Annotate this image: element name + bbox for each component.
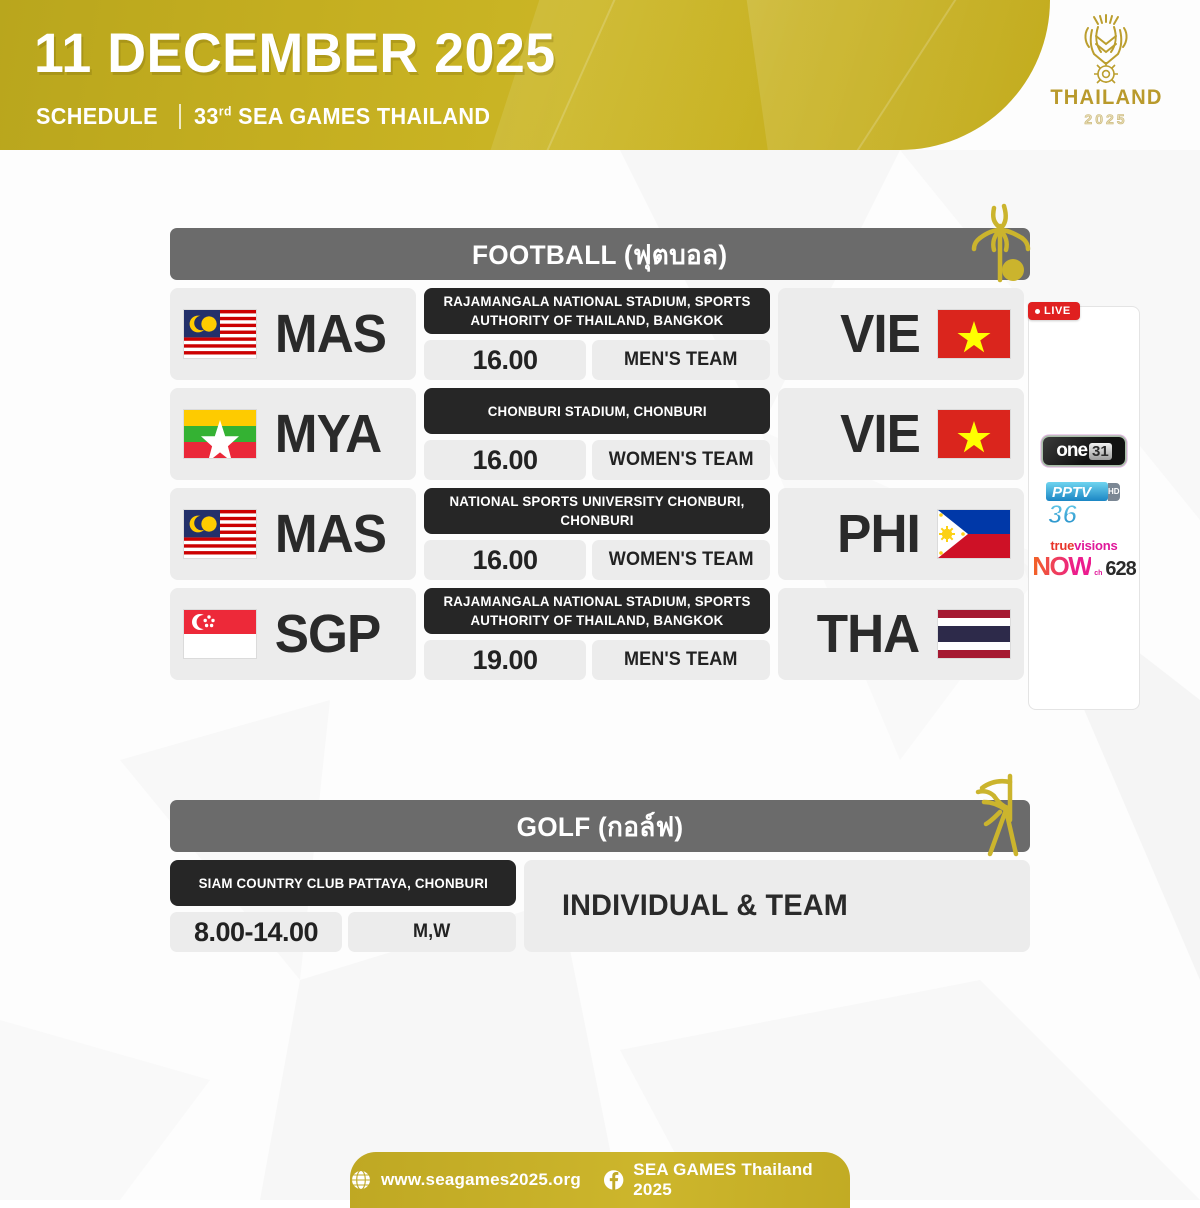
event-text: WOMEN'S TEAM	[609, 449, 754, 471]
venue-label: RAJAMANGALA NATIONAL STADIUM, SPORTS AUT…	[424, 588, 770, 634]
time-badge: 8.00-14.00	[170, 912, 342, 952]
svg-text:HD: HD	[1108, 487, 1120, 496]
now-channel-number: 628	[1105, 559, 1135, 579]
event-badge: MEN'S TEAM	[592, 640, 770, 680]
venue-label: CHONBURI STADIUM, CHONBURI	[424, 388, 770, 434]
facebook-icon	[603, 1169, 624, 1191]
page-header: 11 DECEMBER 2025 SCHEDULE 33rd SEA GAMES…	[0, 0, 1200, 150]
match-time-row: 16.00 WOMEN'S TEAM	[424, 440, 770, 480]
home-team-code: MYA	[275, 407, 381, 461]
logo-wordmark: THAILAND	[1050, 86, 1162, 110]
match-time-row: 16.00 WOMEN'S TEAM	[424, 540, 770, 580]
schedule-content: FOOTBALL (ฟุตบอล)	[0, 150, 1200, 952]
channel-logo-truevisions-now-628[interactable]: truevisions NOW ch 628	[1034, 539, 1134, 579]
venue-label: SIAM COUNTRY CLUB PATTAYA, CHONBURI	[170, 860, 516, 906]
flag-philippines-icon	[938, 510, 1010, 558]
category-text: M,W	[413, 921, 450, 943]
away-team-cell: VIE	[778, 288, 1024, 380]
match-detail-cell: RAJAMANGALA NATIONAL STADIUM, SPORTS AUT…	[424, 288, 770, 380]
away-team-cell: VIE	[778, 388, 1024, 480]
broadcast-channels-panel: one 31 PPTV HD 36 truevisions NOW ch 628	[1028, 306, 1140, 710]
svg-text:36: 36	[1048, 499, 1077, 525]
venue-label: RAJAMANGALA NATIONAL STADIUM, SPORTS AUT…	[424, 288, 770, 334]
one-channel-number: 31	[1089, 443, 1112, 460]
facebook-label: SEA GAMES Thailand 2025	[633, 1160, 850, 1200]
section-header-golf: GOLF (กอล์ฟ)	[170, 800, 1030, 852]
golf-time-row: 8.00-14.00 M,W	[170, 912, 516, 952]
home-team-code: MAS	[275, 307, 386, 361]
schedule-label: SCHEDULE	[36, 103, 158, 130]
home-team-cell: SGP	[170, 588, 416, 680]
breadcrumb: SCHEDULE 33rd SEA GAMES THAILAND	[36, 103, 509, 130]
footer-website[interactable]: www.seagames2025.org	[350, 1169, 581, 1191]
flag-singapore-icon	[184, 610, 256, 658]
event-text: MEN'S TEAM	[624, 349, 738, 371]
golf-event-cell: INDIVIDUAL & TEAM	[524, 860, 1030, 952]
flag-vietnam-icon	[938, 410, 1010, 458]
globe-icon	[350, 1169, 372, 1191]
match-detail-cell: NATIONAL SPORTS UNIVERSITY CHONBURI, CHO…	[424, 488, 770, 580]
sport-section-golf: GOLF (กอล์ฟ) SIAM COUNTRY CLUB PATTAYA, …	[170, 800, 1030, 952]
now-superscript: ch	[1094, 570, 1102, 577]
event-text: MEN'S TEAM	[624, 649, 738, 671]
section-title: FOOTBALL (ฟุตบอล)	[472, 233, 727, 276]
page-title: 11 DECEMBER 2025	[34, 20, 556, 85]
away-team-code: VIE	[840, 407, 920, 461]
one-wordmark: one	[1056, 440, 1087, 462]
match-row: MAS NATIONAL SPORTS UNIVERSITY CHONBURI,…	[170, 488, 1030, 580]
sea-games-logo: THAILAND 2025	[1040, 14, 1172, 136]
away-team-code: VIE	[840, 307, 920, 361]
match-time-row: 19.00 MEN'S TEAM	[424, 640, 770, 680]
category-badge: M,W	[348, 912, 516, 952]
flag-myanmar-icon	[184, 410, 256, 458]
match-detail-cell: CHONBURI STADIUM, CHONBURI 16.00 WOMEN'S…	[424, 388, 770, 480]
live-label: LIVE	[1044, 305, 1071, 317]
match-row: MAS RAJAMANGALA NATIONAL STADIUM, SPORTS…	[170, 288, 1030, 380]
football-pictogram-icon	[964, 196, 1038, 288]
header-sheen-2	[743, 0, 1050, 150]
venue-text: NATIONAL SPORTS UNIVERSITY CHONBURI, CHO…	[442, 492, 752, 530]
footer-facebook[interactable]: SEA GAMES Thailand 2025	[603, 1160, 850, 1200]
venue-label: NATIONAL SPORTS UNIVERSITY CHONBURI, CHO…	[424, 488, 770, 534]
golf-detail-cell: SIAM COUNTRY CLUB PATTAYA, CHONBURI 8.00…	[170, 860, 516, 952]
time-badge: 16.00	[424, 440, 586, 480]
channel-logo-pptv-hd-36[interactable]: PPTV HD 36	[1042, 479, 1126, 525]
away-team-cell: PHI	[778, 488, 1024, 580]
now-row: NOW ch 628	[1034, 553, 1134, 579]
event-text: INDIVIDUAL & TEAM	[562, 889, 848, 923]
match-list-football: MAS RAJAMANGALA NATIONAL STADIUM, SPORTS…	[170, 288, 1030, 680]
match-row: SGP RAJAMANGALA NATIONAL STADIUM, SPORTS…	[170, 588, 1030, 680]
home-team-cell: MYA	[170, 388, 416, 480]
flag-malaysia-icon	[184, 310, 256, 358]
breadcrumb-divider	[179, 104, 181, 129]
edition-number: 33	[194, 103, 219, 129]
event-badge: WOMEN'S TEAM	[592, 540, 770, 580]
away-team-code: THA	[817, 607, 920, 661]
event-badge: MEN'S TEAM	[592, 340, 770, 380]
time-badge: 16.00	[424, 540, 586, 580]
flag-thailand-icon	[938, 610, 1010, 658]
flag-malaysia-icon	[184, 510, 256, 558]
golf-entry-row: SIAM COUNTRY CLUB PATTAYA, CHONBURI 8.00…	[170, 860, 1030, 952]
thai-wai-emblem-icon	[1068, 14, 1144, 84]
match-time-row: 16.00 MEN'S TEAM	[424, 340, 770, 380]
flag-vietnam-icon	[938, 310, 1010, 358]
home-team-code: MAS	[275, 507, 386, 561]
now-wordmark: NOW	[1032, 553, 1091, 579]
match-detail-cell: RAJAMANGALA NATIONAL STADIUM, SPORTS AUT…	[424, 588, 770, 680]
time-badge: 16.00	[424, 340, 586, 380]
logo-year: 2025	[1084, 111, 1127, 127]
header-gold-banner: 11 DECEMBER 2025 SCHEDULE 33rd SEA GAMES…	[0, 0, 1050, 150]
home-team-cell: MAS	[170, 288, 416, 380]
live-badge: LIVE	[1028, 302, 1080, 320]
edition-suffix: rd	[219, 103, 232, 118]
venue-text: CHONBURI STADIUM, CHONBURI	[488, 402, 707, 421]
section-title: GOLF (กอล์ฟ)	[517, 805, 684, 848]
home-team-cell: MAS	[170, 488, 416, 580]
venue-text: RAJAMANGALA NATIONAL STADIUM, SPORTS AUT…	[442, 292, 752, 330]
edition-rest: SEA GAMES THAILAND	[232, 103, 491, 129]
away-team-cell: THA	[778, 588, 1024, 680]
away-team-code: PHI	[837, 507, 920, 561]
event-text: WOMEN'S TEAM	[609, 549, 754, 571]
edition-label: 33rd SEA GAMES THAILAND	[194, 103, 490, 130]
channel-logo-one-31[interactable]: one 31	[1043, 437, 1125, 465]
venue-text: RAJAMANGALA NATIONAL STADIUM, SPORTS AUT…	[442, 592, 752, 630]
venue-text: SIAM COUNTRY CLUB PATTAYA, CHONBURI	[198, 874, 487, 893]
section-header-football: FOOTBALL (ฟุตบอล)	[170, 228, 1030, 280]
website-label: www.seagames2025.org	[381, 1170, 581, 1190]
home-team-code: SGP	[275, 607, 380, 661]
match-row: MYA CHONBURI STADIUM, CHONBURI 16.00 WOM…	[170, 388, 1030, 480]
live-dot-icon	[1035, 309, 1040, 314]
time-badge: 19.00	[424, 640, 586, 680]
event-badge: WOMEN'S TEAM	[592, 440, 770, 480]
sport-section-football: FOOTBALL (ฟุตบอล)	[170, 228, 1030, 680]
golf-pictogram-icon	[964, 768, 1038, 860]
